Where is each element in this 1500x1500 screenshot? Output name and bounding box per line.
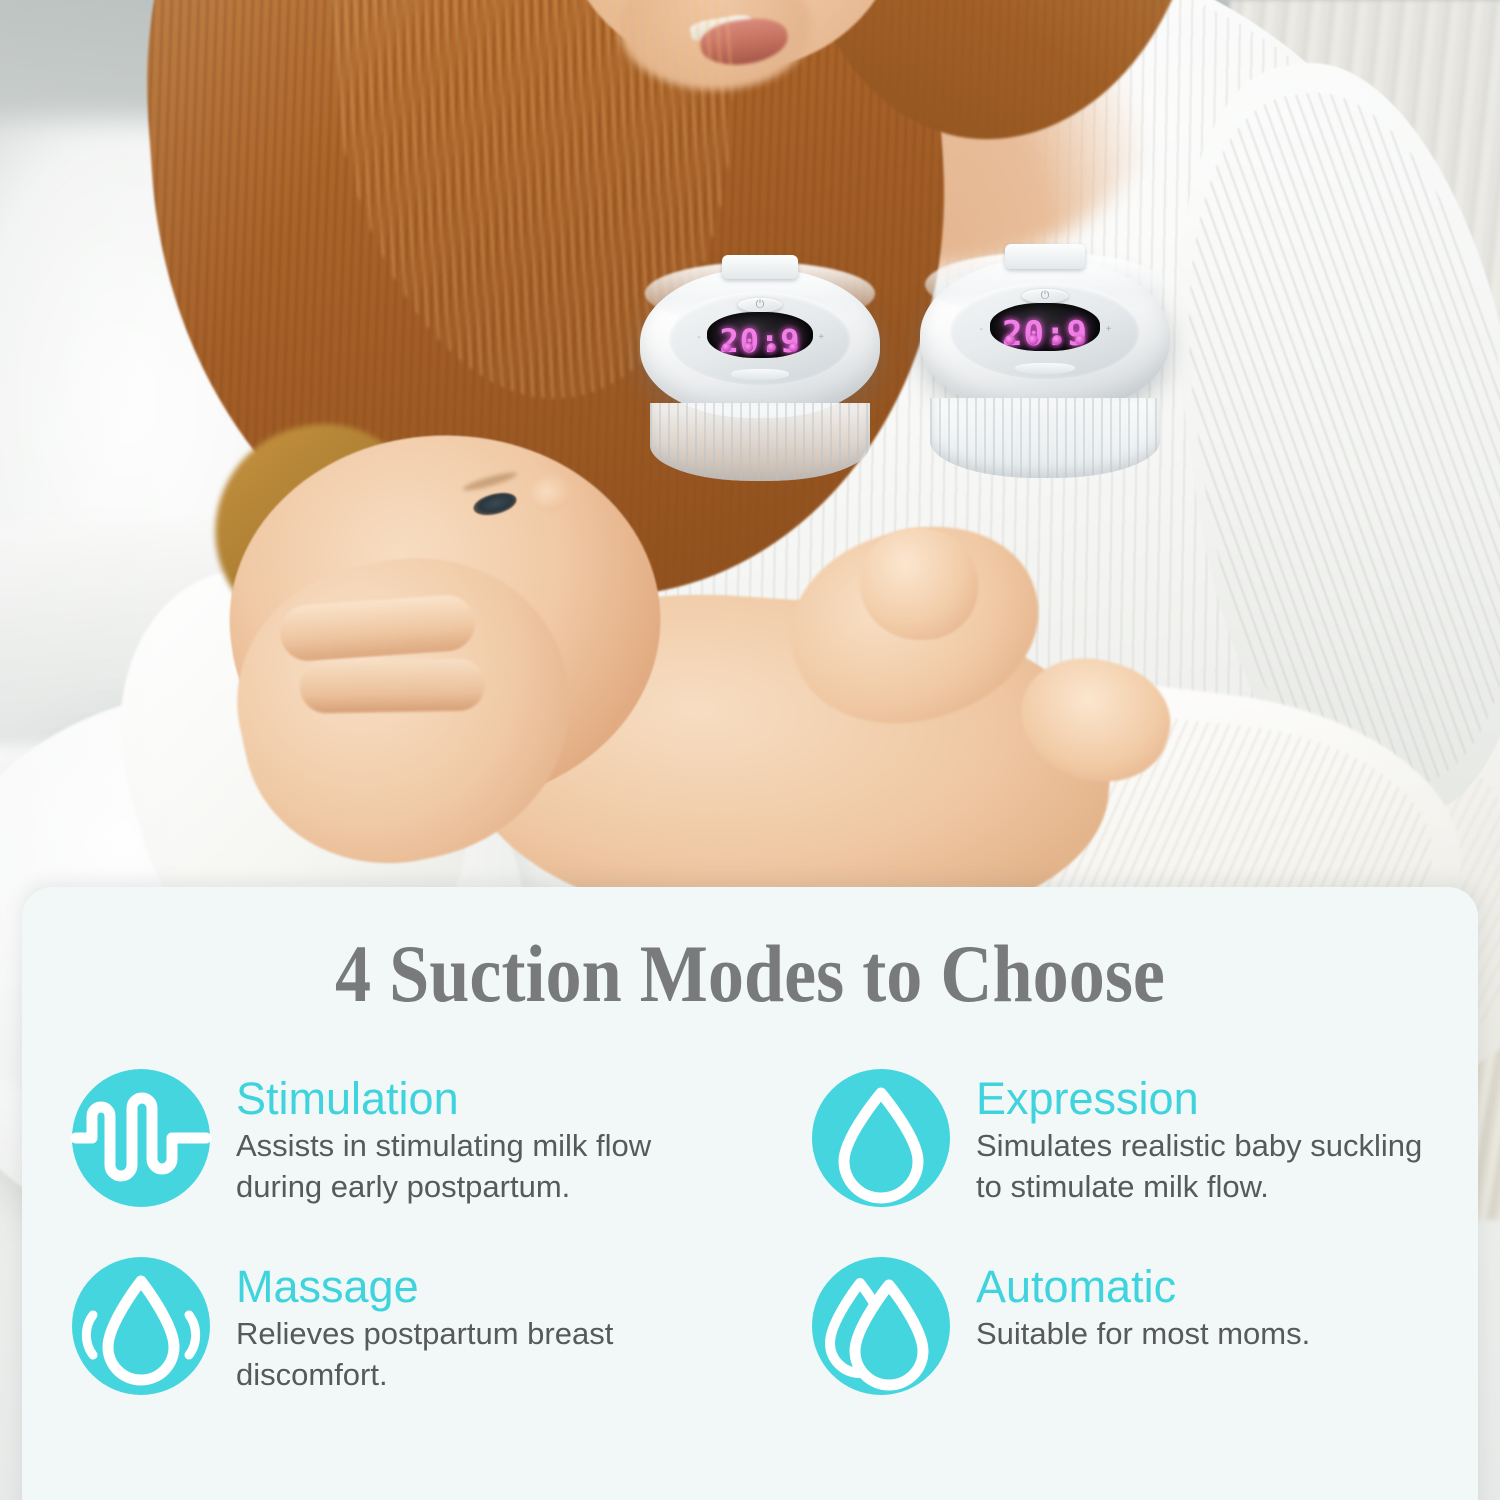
feature-stimulation: Stimulation Assists in stimulating milk …	[70, 1067, 810, 1209]
page-title: 4 Suction Modes to Choose	[109, 887, 1390, 1015]
feature-text: Massage Relieves postpartum breast disco…	[236, 1255, 716, 1396]
feature-text: Expression Simulates realistic baby suck…	[976, 1067, 1446, 1208]
feature-text: Automatic Suitable for most moms.	[976, 1255, 1310, 1355]
feature-automatic: Automatic Suitable for most moms.	[810, 1255, 1478, 1397]
features-panel: 4 Suction Modes to Choose Stimulation As…	[22, 887, 1478, 1500]
water-drop-icon	[810, 1067, 952, 1209]
feature-title: Automatic	[976, 1263, 1310, 1310]
feature-title: Expression	[976, 1075, 1446, 1122]
features-grid: Stimulation Assists in stimulating milk …	[22, 1067, 1478, 1397]
feature-title: Massage	[236, 1263, 716, 1310]
double-drop-icon	[810, 1255, 952, 1397]
feature-description: Relieves postpartum breast discomfort.	[236, 1314, 716, 1396]
feature-expression: Expression Simulates realistic baby suck…	[810, 1067, 1478, 1209]
vibrating-drop-icon	[70, 1255, 212, 1397]
feature-massage: Massage Relieves postpartum breast disco…	[70, 1255, 810, 1397]
feature-description: Simulates realistic baby suckling to sti…	[976, 1126, 1446, 1208]
feature-title: Stimulation	[236, 1075, 716, 1122]
product-marketing-image: ⏻ - + 20:9	[0, 0, 1500, 1500]
feature-description: Suitable for most moms.	[976, 1314, 1310, 1355]
feature-text: Stimulation Assists in stimulating milk …	[236, 1067, 716, 1208]
waveform-icon	[70, 1067, 212, 1209]
feature-description: Assists in stimulating milk flow during …	[236, 1126, 716, 1208]
